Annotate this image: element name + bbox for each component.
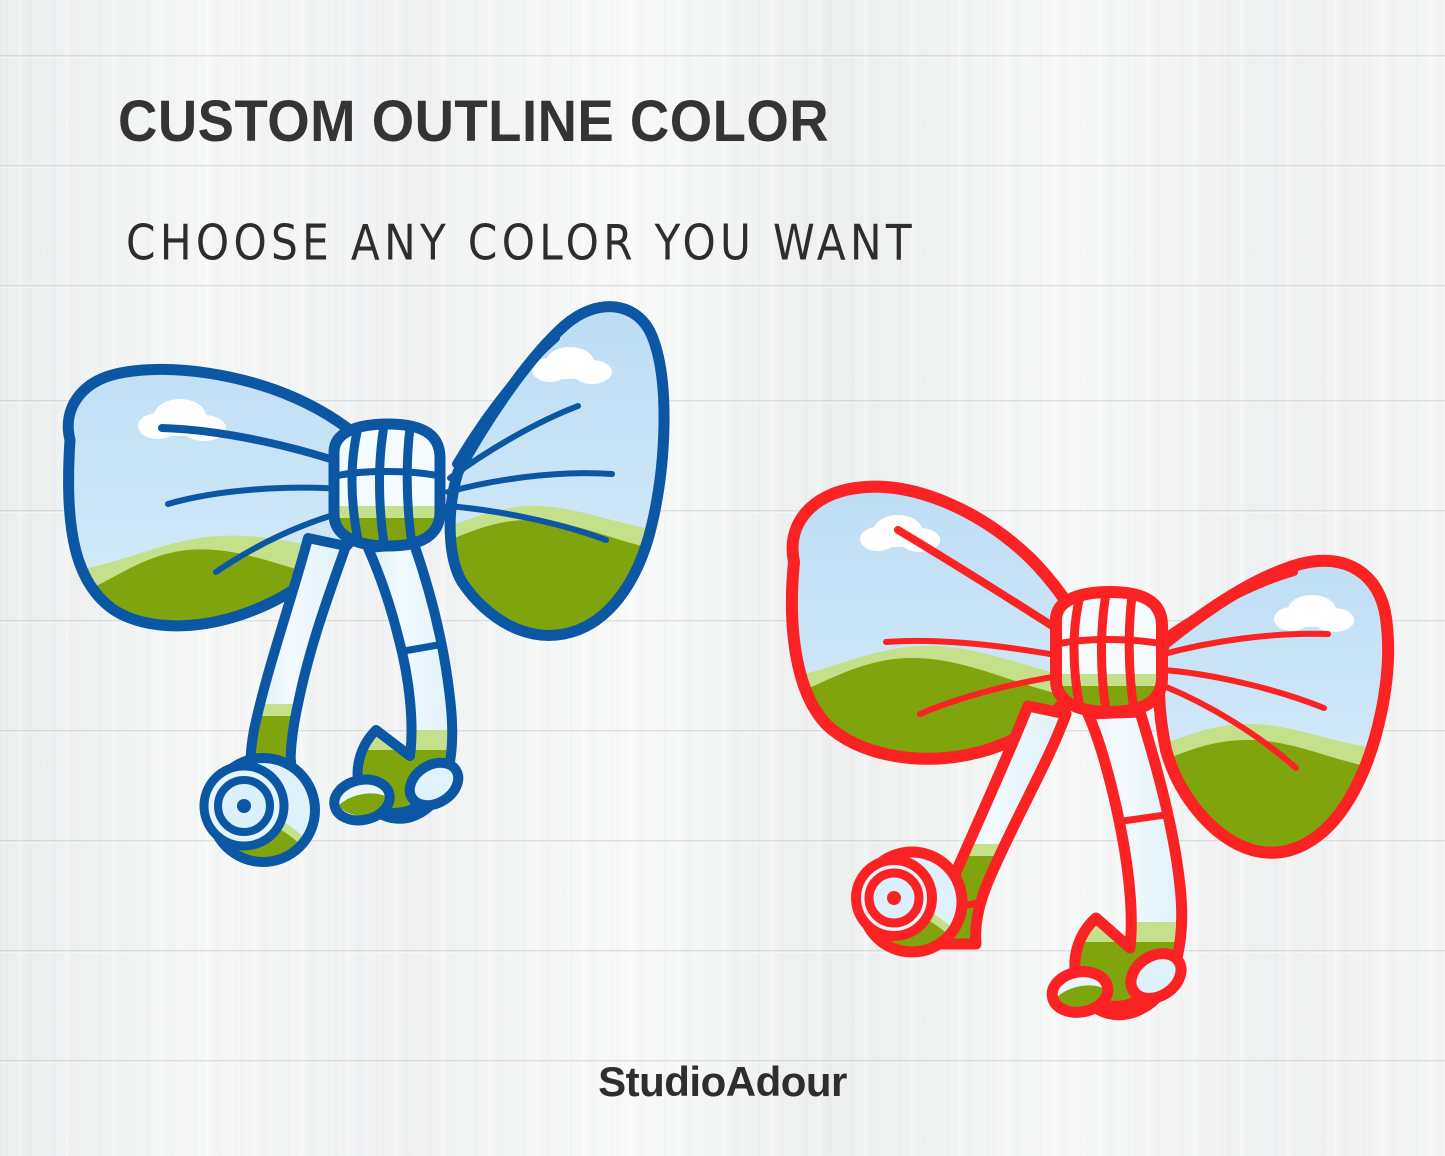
bow-center-knot [1050, 582, 1175, 722]
page-subtitle: CHOOSE ANY COLOR YOU WANT [126, 215, 916, 272]
plank-seam-2 [0, 285, 1445, 288]
brand-name: StudioAdour [0, 1058, 1445, 1106]
chest-piece [204, 758, 316, 870]
stethoscope-bow-red [772, 462, 1412, 1062]
poster-canvas: CUSTOM OUTLINE COLOR CHOOSE ANY COLOR YO… [0, 0, 1445, 1156]
plank-seam-0 [0, 55, 1445, 58]
ear-tip-a [1049, 967, 1111, 1016]
bow-center-knot [328, 415, 453, 555]
plank-seam-1 [0, 165, 1445, 168]
page-title: CUSTOM OUTLINE COLOR [118, 88, 829, 155]
stethoscope-bow-blue [58, 300, 718, 885]
